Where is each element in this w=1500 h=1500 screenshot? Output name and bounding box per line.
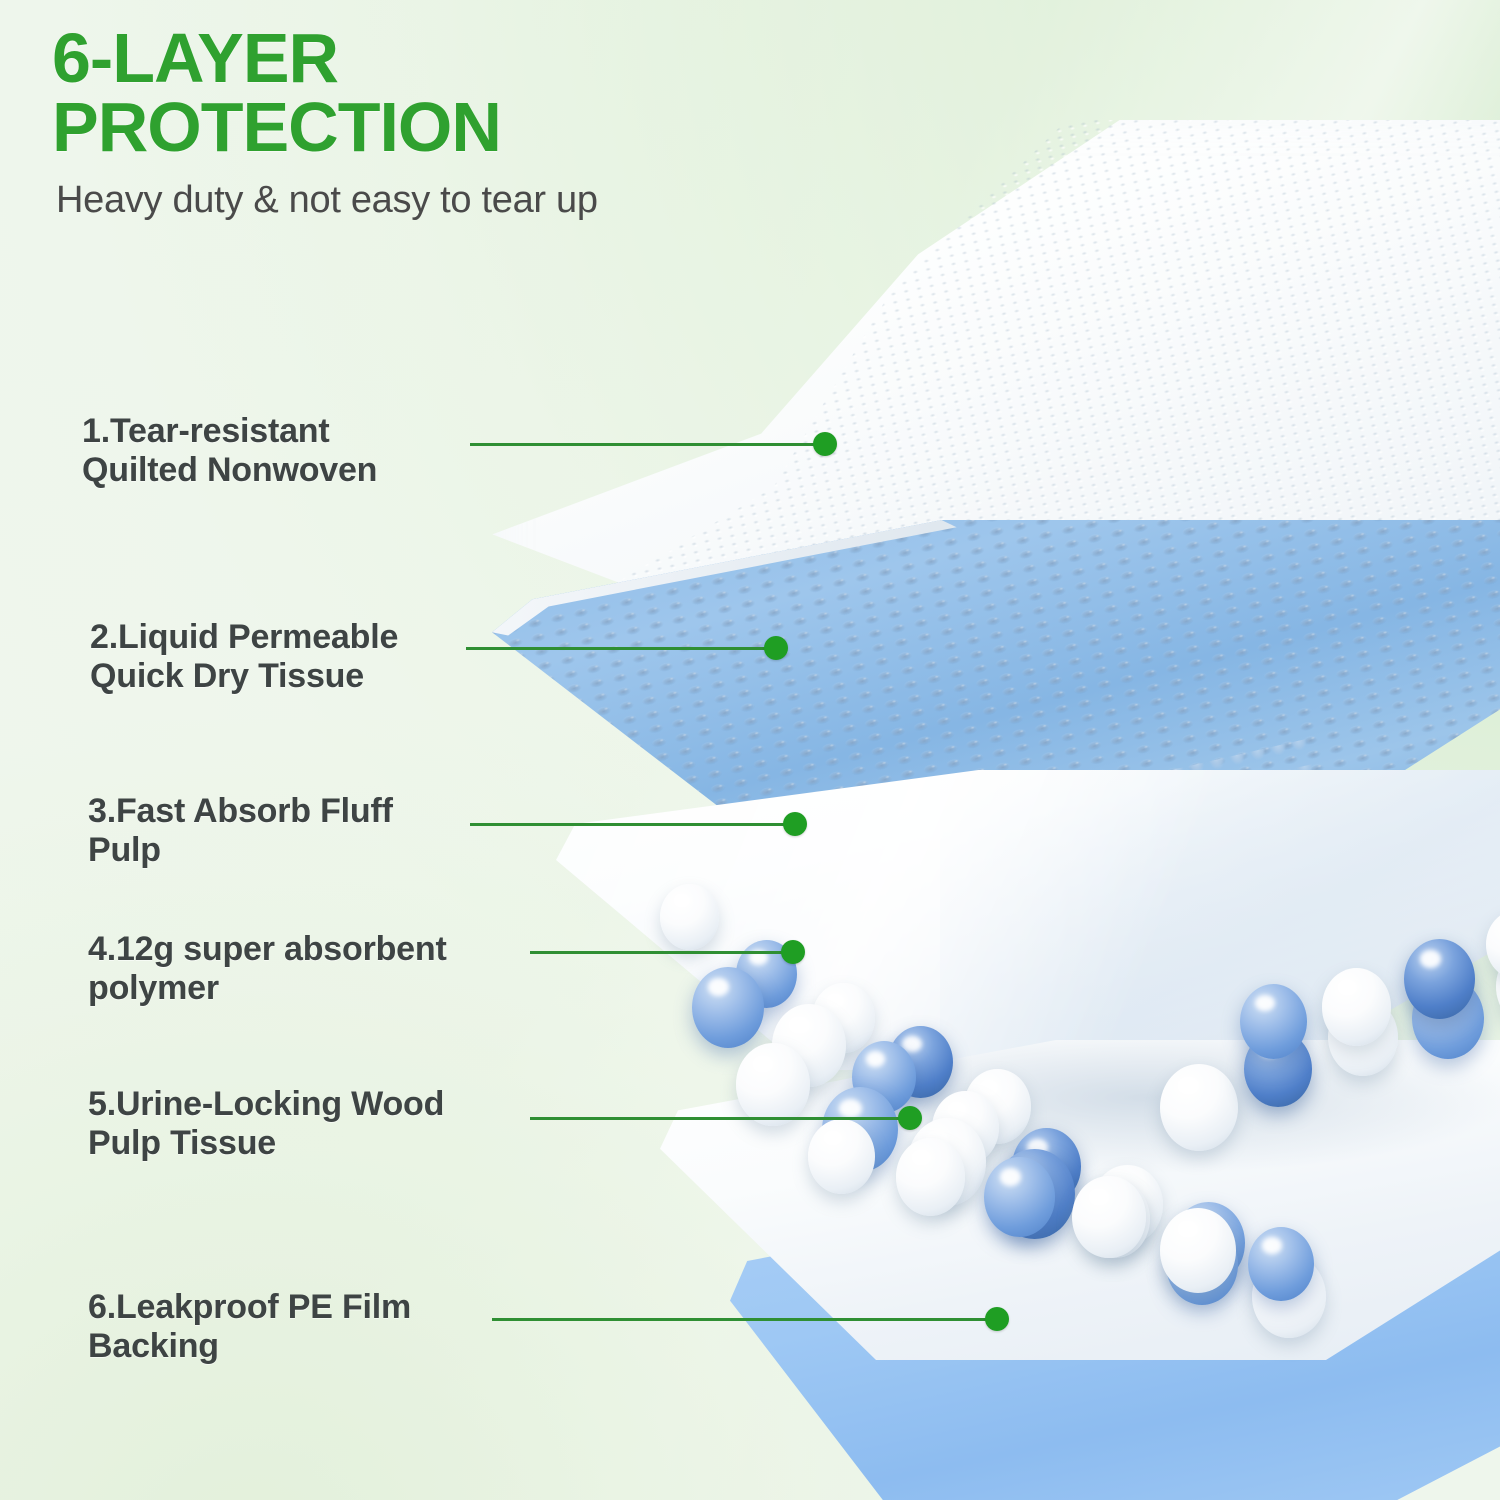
leader-line-4 bbox=[530, 951, 793, 954]
callout-label-2: 2.Liquid Permeable Quick Dry Tissue bbox=[90, 618, 398, 697]
page-title: 6-LAYERPROTECTION bbox=[52, 24, 812, 161]
leader-dot-2 bbox=[764, 636, 788, 660]
leader-dot-1 bbox=[813, 432, 837, 456]
callout-label-5: 5.Urine-Locking Wood Pulp Tissue bbox=[88, 1085, 444, 1164]
leader-line-1 bbox=[470, 443, 825, 446]
callout-label-3: 3.Fast Absorb Fluff Pulp bbox=[88, 792, 393, 871]
callout-group: 1.Tear-resistant Quilted Nonwoven 2.Liqu… bbox=[0, 0, 1500, 1500]
callout-label-1: 1.Tear-resistant Quilted Nonwoven bbox=[82, 412, 377, 491]
callout-label-4: 4.12g super absorbent polymer bbox=[88, 930, 447, 1009]
leader-dot-6 bbox=[985, 1307, 1009, 1331]
leader-dot-3 bbox=[783, 812, 807, 836]
leader-line-6 bbox=[492, 1318, 997, 1321]
header-block: 6-LAYERPROTECTION Heavy duty & not easy … bbox=[52, 24, 812, 222]
leader-line-5 bbox=[530, 1117, 910, 1120]
infographic-root: 6-LAYERPROTECTION Heavy duty & not easy … bbox=[0, 0, 1500, 1500]
title-line-1: 6-LAYER bbox=[52, 19, 338, 97]
page-subtitle: Heavy duty & not easy to tear up bbox=[56, 179, 812, 222]
leader-line-3 bbox=[470, 823, 795, 826]
title-line-2: PROTECTION bbox=[52, 93, 812, 162]
leader-dot-4 bbox=[781, 940, 805, 964]
callout-label-6: 6.Leakproof PE Film Backing bbox=[88, 1288, 411, 1367]
leader-line-2 bbox=[466, 647, 776, 650]
leader-dot-5 bbox=[898, 1106, 922, 1130]
